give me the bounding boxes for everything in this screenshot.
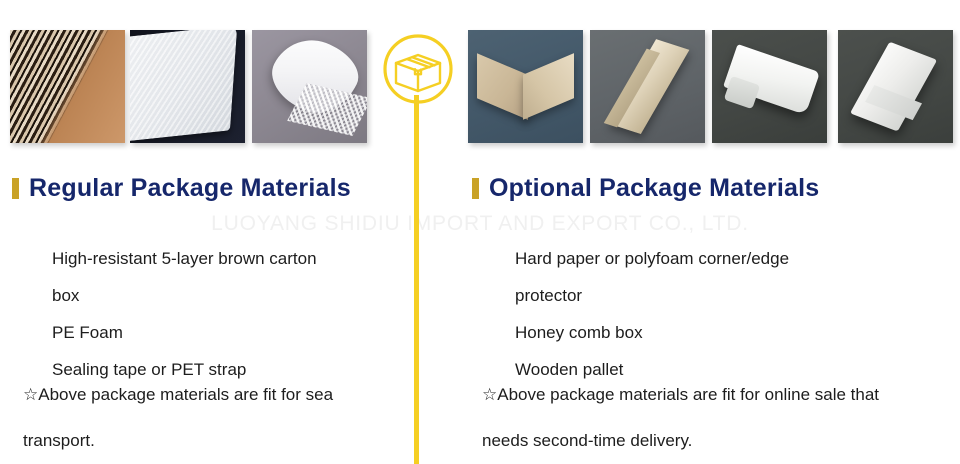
right-materials-list: Hard paper or polyfoam corner/edge prote…: [515, 240, 955, 388]
thumbnail-image: [468, 30, 583, 143]
corrugated-cardboard-thumbnail: [10, 30, 125, 143]
right-note: ☆Above package materials are fit for onl…: [482, 372, 879, 464]
package-materials-infographic: LUOYANG SHIDIU IMPORT AND EXPORT CO., LT…: [0, 0, 960, 464]
left-note: ☆Above package materials are fit for sea…: [23, 372, 333, 464]
list-item: Honey comb box: [515, 314, 955, 351]
left-note-line-2: transport.: [23, 418, 333, 464]
pe-foam-sheet-thumbnail: [130, 30, 245, 143]
list-item: PE Foam: [52, 314, 412, 351]
polyfoam-edge-protector-thumbnail: [712, 30, 827, 143]
left-heading-label: Regular Package Materials: [29, 174, 351, 203]
left-section-heading: Regular Package Materials: [12, 174, 351, 203]
thumbnail-image: [252, 30, 367, 143]
thumbnail-image: [130, 30, 245, 143]
paper-angle-protector-thumbnail: [590, 30, 705, 143]
package-box-in-circle-icon: [382, 33, 454, 105]
right-note-line-1: ☆Above package materials are fit for onl…: [482, 372, 879, 418]
thumbnail-image: [838, 30, 953, 143]
right-heading-label: Optional Package Materials: [489, 174, 819, 203]
list-item: box: [52, 277, 412, 314]
polyfoam-bar-protector-thumbnail: [838, 30, 953, 143]
list-item: Hard paper or polyfoam corner/edge: [515, 240, 955, 277]
right-note-line-2: needs second-time delivery.: [482, 418, 879, 464]
right-section-heading: Optional Package Materials: [472, 174, 819, 203]
list-item: High-resistant 5-layer brown carton: [52, 240, 412, 277]
vertical-divider: [414, 95, 419, 464]
gold-bar-marker: [12, 178, 19, 199]
gold-bar-marker: [472, 178, 479, 199]
company-watermark: LUOYANG SHIDIU IMPORT AND EXPORT CO., LT…: [0, 212, 960, 236]
left-note-line-1: ☆Above package materials are fit for sea: [23, 372, 333, 418]
pe-foam-roll-thumbnail: [252, 30, 367, 143]
thumbnail-image: [10, 30, 125, 143]
thumbnail-image: [712, 30, 827, 143]
paper-corner-protector-thumbnail: [468, 30, 583, 143]
left-materials-list: High-resistant 5-layer brown carton box …: [52, 240, 412, 388]
list-item: protector: [515, 277, 955, 314]
thumbnail-image: [590, 30, 705, 143]
